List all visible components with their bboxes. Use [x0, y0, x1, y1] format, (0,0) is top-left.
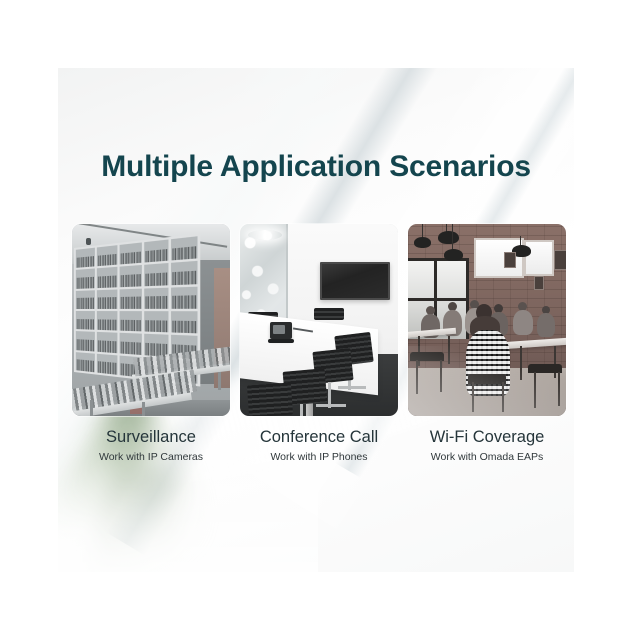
product-marketing-image: Multiple Application Scenarios — [58, 68, 574, 572]
ip-phone-icon — [270, 322, 292, 339]
scenario-title: Surveillance — [72, 428, 230, 447]
scenario-subtitle: Work with Omada EAPs — [408, 451, 566, 463]
conference-call-photo — [240, 224, 398, 416]
wifi-coverage-photo — [408, 224, 566, 416]
surveillance-photo — [72, 224, 230, 416]
scenario-surveillance: Surveillance Work with IP Cameras — [72, 224, 230, 463]
wall-display-icon — [320, 262, 390, 300]
scenario-conference-call: Conference Call Work with IP Phones — [240, 224, 398, 463]
scenario-subtitle: Work with IP Cameras — [72, 451, 230, 463]
page-title: Multiple Application Scenarios — [58, 150, 574, 184]
scenario-subtitle: Work with IP Phones — [240, 451, 398, 463]
scenario-title: Conference Call — [240, 428, 398, 447]
scenario-wifi-coverage: Wi-Fi Coverage Work with Omada EAPs — [408, 224, 566, 463]
screenshot-canvas: Multiple Application Scenarios — [0, 0, 640, 640]
scenario-title: Wi-Fi Coverage — [408, 428, 566, 447]
scenario-list: Surveillance Work with IP Cameras — [72, 224, 566, 463]
